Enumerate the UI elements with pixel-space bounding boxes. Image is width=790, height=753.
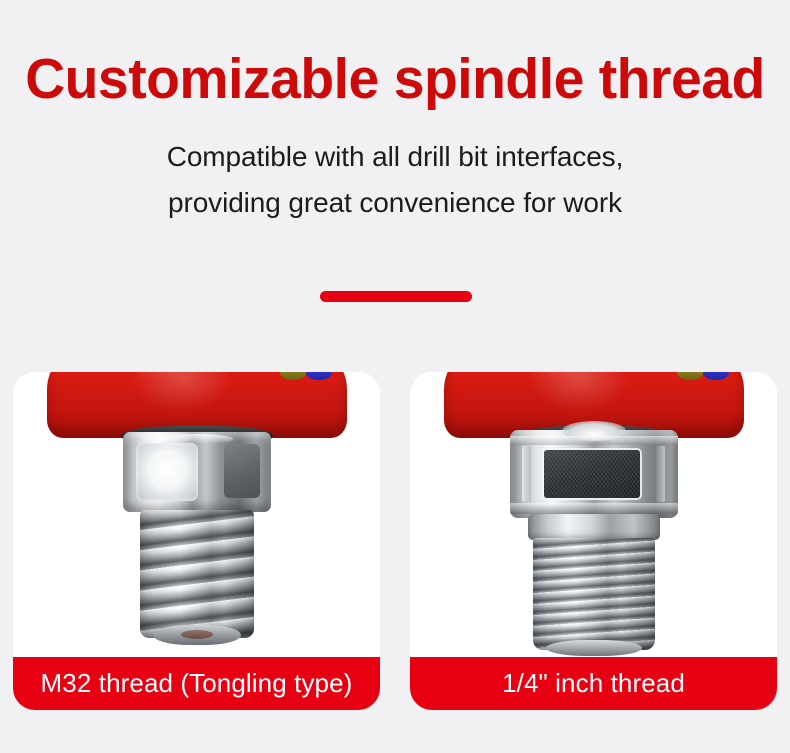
accent-divider bbox=[320, 291, 472, 302]
subtitle-line-2: providing great convenience for work bbox=[0, 180, 790, 226]
olive-wire bbox=[677, 372, 703, 380]
hex-nut-dark-facet bbox=[224, 444, 260, 498]
page-title: Customizable spindle thread bbox=[12, 44, 778, 114]
chrome-hex-nut bbox=[123, 432, 271, 512]
collar-top-rib bbox=[510, 436, 678, 445]
hex-nut-bright-facet bbox=[136, 443, 198, 501]
card-caption-m32: M32 thread (Tongling type) bbox=[13, 657, 380, 710]
wire-bundle bbox=[677, 372, 751, 382]
spindle-tip-core bbox=[181, 630, 213, 639]
subtitle-line-1: Compatible with all drill bit interfaces… bbox=[0, 134, 790, 180]
wire-bundle bbox=[280, 372, 354, 382]
blue-wire bbox=[306, 372, 332, 380]
spindle-shoulder bbox=[528, 514, 660, 540]
promo-page: Customizable spindle thread Compatible w… bbox=[0, 0, 790, 753]
subtitle-block: Compatible with all drill bit interfaces… bbox=[0, 134, 790, 226]
product-card-row: M32 thread (Tongling type) bbox=[0, 372, 790, 710]
product-card-quarter-inch[interactable]: 1/4" inch thread bbox=[410, 372, 777, 710]
product-photo-m32 bbox=[13, 372, 380, 657]
olive-wire bbox=[280, 372, 306, 380]
header-section: Customizable spindle thread Compatible w… bbox=[0, 0, 790, 330]
coarse-threaded-spindle bbox=[140, 510, 254, 638]
spindle-tip bbox=[546, 640, 642, 656]
product-photo-quarter-inch bbox=[410, 372, 777, 657]
blue-wire bbox=[703, 372, 729, 380]
fine-threaded-spindle bbox=[533, 538, 655, 650]
card-caption-quarter-inch: 1/4" inch thread bbox=[410, 657, 777, 710]
collar-dark-window bbox=[544, 450, 640, 498]
collar-bottom-rib bbox=[510, 503, 678, 514]
product-card-m32[interactable]: M32 thread (Tongling type) bbox=[13, 372, 380, 710]
chrome-collar bbox=[510, 430, 678, 518]
collar-right-notch bbox=[656, 446, 665, 502]
collar-left-notch bbox=[522, 446, 531, 502]
